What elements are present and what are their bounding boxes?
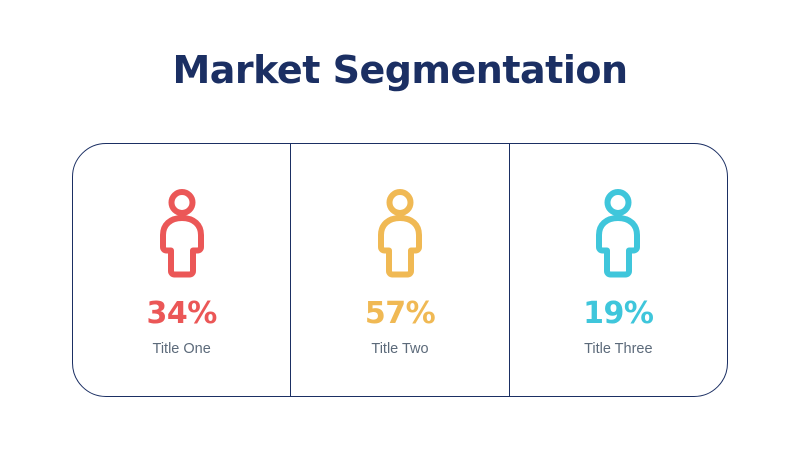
page-title: Market Segmentation [0,48,800,92]
segment-label: Title Three [584,342,653,357]
slide: Market Segmentation 34% Title One 57% Ti… [0,0,800,450]
segmentation-panel: 34% Title One 57% Title Two 19% Title Th [72,143,728,397]
person-icon [372,187,428,279]
segment-percent: 19% [583,299,653,329]
segment-card-1[interactable]: 34% Title One [73,144,290,396]
segment-label: Title Two [371,342,428,357]
person-icon [154,187,210,279]
segment-card-2[interactable]: 57% Title Two [290,144,508,396]
segment-card-3[interactable]: 19% Title Three [509,144,727,396]
person-icon [590,187,646,279]
segment-percent: 57% [365,299,435,329]
segment-percent: 34% [147,299,217,329]
segment-label: Title One [153,342,211,357]
